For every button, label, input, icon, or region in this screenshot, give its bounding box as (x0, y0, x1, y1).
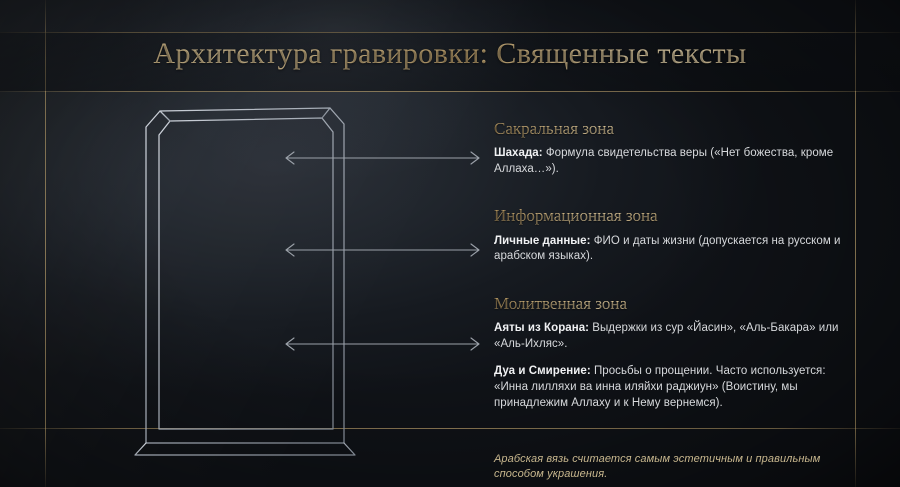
zone-paragraph: Аяты из Корана: Выдержки из сур «Йасин»,… (494, 321, 854, 352)
footnote: Арабская вязь считается самым эстетичным… (494, 452, 834, 482)
monument-diagram (130, 95, 360, 460)
zone-prayer: Молитвенная зона Аяты из Корана: Выдержк… (494, 293, 854, 411)
paragraph-lead: Шахада: (494, 147, 543, 159)
monument-inner-face (159, 118, 333, 429)
zone-title-sacral: Сакральная зона (494, 118, 854, 139)
zone-information: Информационная зона Личные данные: ФИО и… (494, 205, 854, 264)
monument-outline-svg (130, 95, 360, 460)
zones-list: Сакральная зона Шахада: Формула свидетел… (494, 118, 854, 429)
zone-title-prayer: Молитвенная зона (494, 293, 854, 314)
paragraph-text: Формула свидетельства веры («Нет божеств… (494, 147, 833, 175)
page-title: Архитектура гравировки: Священные тексты (0, 36, 900, 72)
slide-canvas: Архитектура гравировки: Священные тексты (0, 0, 900, 487)
paragraph-lead: Аяты из Корана: (494, 322, 589, 334)
zone-title-information: Информационная зона (494, 205, 854, 226)
paragraph-lead: Дуа и Смирение: (494, 365, 591, 377)
monument-outer-body (146, 108, 344, 443)
paragraph-lead: Личные данные: (494, 235, 591, 247)
monument-base-plinth (135, 443, 355, 455)
zone-sacral: Сакральная зона Шахада: Формула свидетел… (494, 118, 854, 177)
zone-paragraph: Шахада: Формула свидетельства веры («Нет… (494, 146, 854, 177)
zone-paragraph: Дуа и Смирение: Просьбы о прощении. Част… (494, 364, 854, 411)
zone-paragraph: Личные данные: ФИО и даты жизни (допуска… (494, 234, 854, 265)
